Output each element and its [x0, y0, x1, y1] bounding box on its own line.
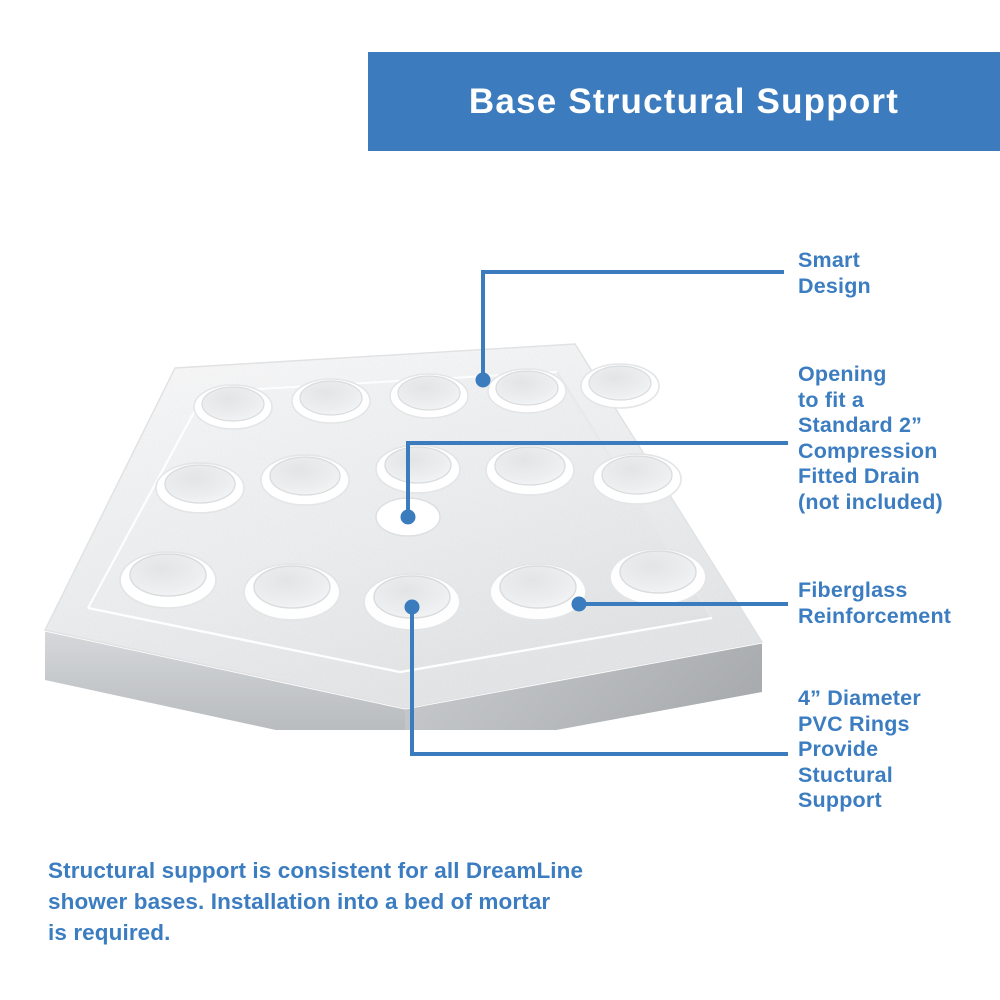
pvc-ring — [581, 364, 659, 408]
pvc-ring — [156, 463, 244, 513]
pvc-ring — [244, 564, 340, 620]
product-illustration — [0, 330, 800, 730]
shower-base-svg — [0, 330, 800, 730]
pvc-ring — [488, 369, 566, 413]
pvc-ring — [194, 385, 272, 429]
page-title: Base Structural Support — [469, 82, 899, 122]
pvc-ring — [610, 549, 706, 605]
callout-smart-design: Smart Design — [798, 248, 871, 299]
callout-fiberglass: Fiberglass Reinforcement — [798, 578, 951, 629]
footer-note: Structural support is consistent for all… — [48, 855, 688, 948]
pvc-ring — [486, 445, 574, 495]
pvc-ring — [593, 454, 681, 504]
pvc-ring — [120, 552, 216, 608]
pvc-ring — [261, 455, 349, 505]
callout-pvc-rings: 4” Diameter PVC Rings Provide Stuctural … — [798, 686, 921, 814]
pvc-ring — [376, 445, 460, 493]
pvc-ring — [490, 564, 586, 620]
infographic-page: Base Structural Support — [0, 0, 1000, 1000]
pvc-ring — [390, 374, 468, 418]
drain-opening — [376, 498, 440, 536]
pvc-ring — [292, 379, 370, 423]
header-banner: Base Structural Support — [368, 52, 1000, 151]
callout-drain-opening: Opening to fit a Standard 2” Compression… — [798, 362, 943, 515]
pvc-ring — [364, 574, 460, 630]
